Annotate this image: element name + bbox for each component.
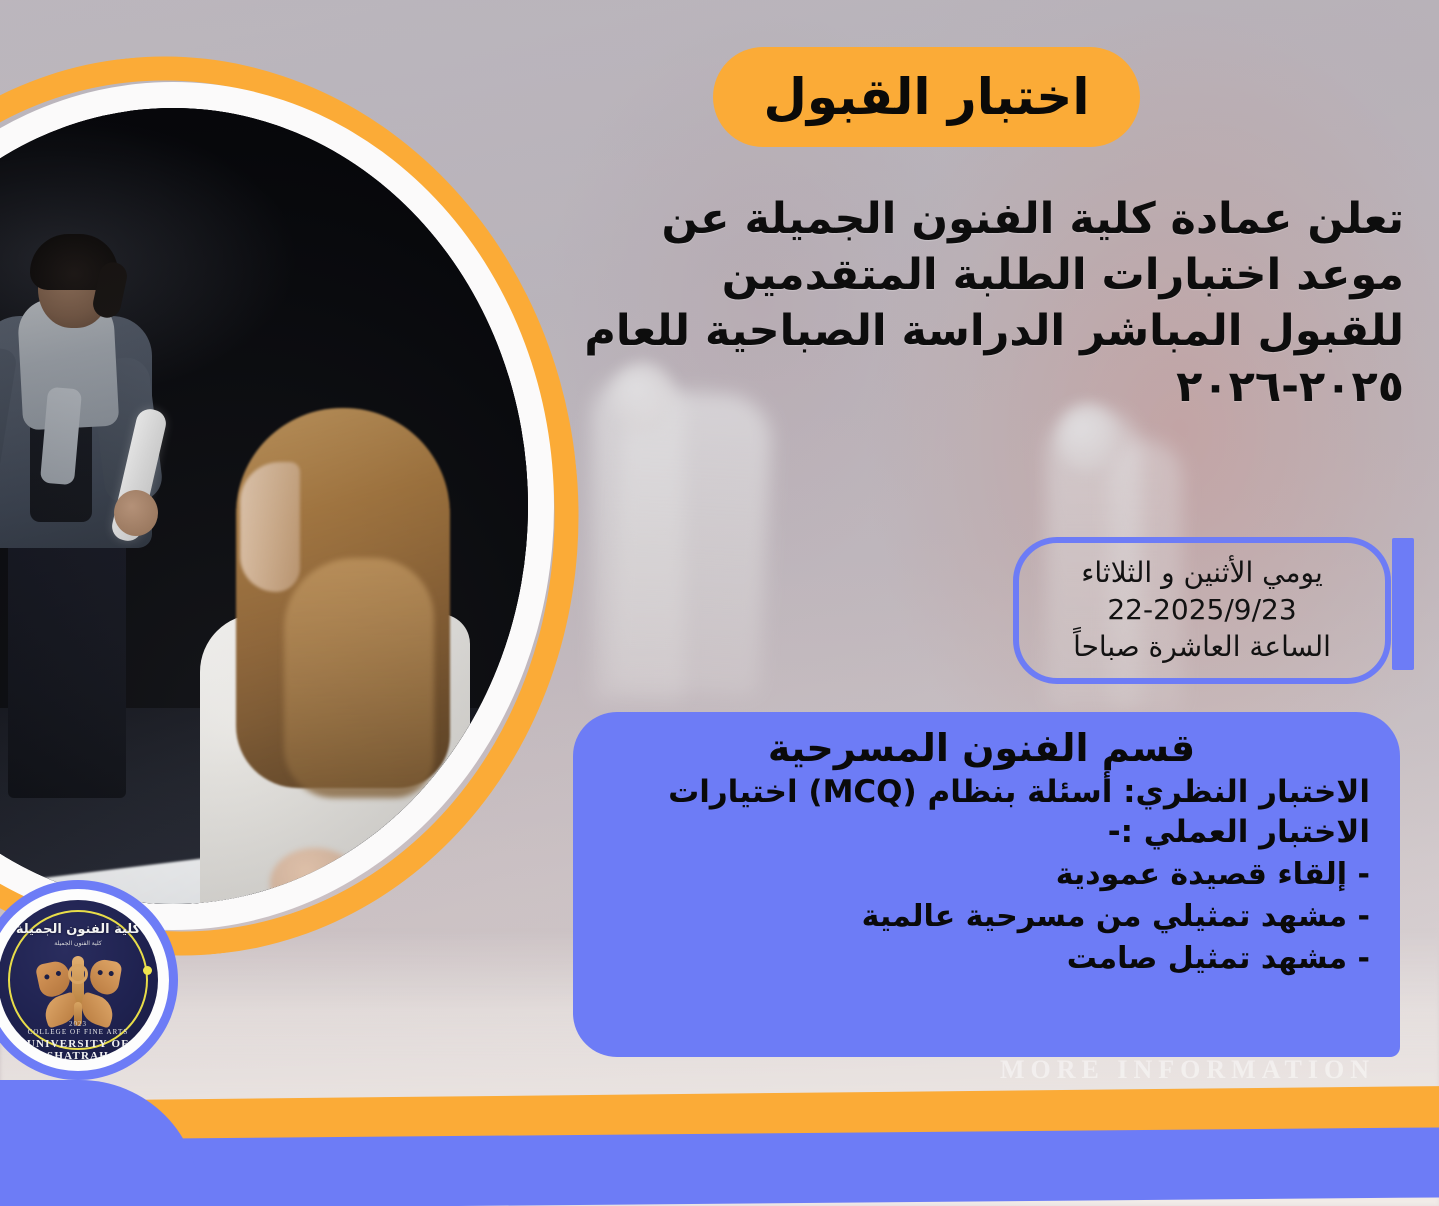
logo-year: 2023 — [0, 1020, 158, 1028]
date-box-accent-bar — [1392, 538, 1414, 670]
mask-eye — [44, 974, 50, 980]
photo-vignette — [0, 108, 528, 904]
department-details-box: قسم الفنون المسرحية الاختبار النظري: أسئ… — [573, 712, 1400, 1057]
stage-photo-medallion — [0, 56, 578, 956]
mask-eye — [97, 970, 103, 976]
poster-canvas: MORE INFORMATION — [0, 0, 1439, 1206]
music-note-loop-icon — [68, 964, 88, 984]
practical-item: - مشهد تمثيلي من مسرحية عالمية — [593, 896, 1370, 938]
exam-days: يومي الأثنين و الثلاثاء — [1081, 555, 1323, 592]
logo-navy-disc: كلية الفنون الجميلة كلية الفنون الجميلة … — [0, 900, 158, 1060]
logo-english-bottom: UNIVERSITY OF SHATRAH — [0, 1038, 158, 1060]
exam-time: الساعة العاشرة صباحاً — [1073, 629, 1331, 666]
practical-exam-label: الاختبار العملي :- — [593, 812, 1370, 852]
bottom-blue-band — [0, 1127, 1439, 1206]
practical-item: - مشهد تمثيل صامت — [593, 938, 1370, 980]
theory-exam-line: الاختبار النظري: أسئلة بنظام (MCQ) اختيا… — [593, 772, 1370, 812]
admission-test-title-text: اختبار القبول — [763, 68, 1089, 126]
logo-arabic-name: كلية الفنون الجميلة — [0, 922, 158, 937]
announcement-headline: تعلن عمادة كلية الفنون الجميلة عن موعد ا… — [574, 192, 1404, 416]
exam-date: 22-2025/9/23 — [1107, 592, 1296, 629]
more-information-watermark: MORE INFORMATION — [1000, 1055, 1375, 1085]
admission-test-title-badge: اختبار القبول — [713, 47, 1140, 147]
mask-eye — [108, 971, 114, 977]
logo-arabic-subtitle: كلية الفنون الجميلة — [0, 940, 158, 947]
practical-item: - إلقاء قصيدة عمودية — [593, 854, 1370, 896]
college-logo-badge: كلية الفنون الجميلة كلية الفنون الجميلة … — [0, 880, 178, 1140]
mask-eye — [55, 970, 61, 976]
logo-theatre-masks-emblem — [34, 956, 122, 1024]
logo-english-top: COLLEGE OF FINE ARTS — [0, 1028, 158, 1036]
logo-gold-dot — [143, 966, 152, 975]
practical-exam-list: - إلقاء قصيدة عمودية - مشهد تمثيلي من مس… — [593, 854, 1370, 980]
tragedy-mask-icon — [87, 958, 122, 997]
department-name: قسم الفنون المسرحية — [593, 722, 1370, 772]
exam-date-box: يومي الأثنين و الثلاثاء 22-2025/9/23 الس… — [1013, 537, 1391, 684]
stage-rehearsal-photo — [0, 108, 528, 904]
